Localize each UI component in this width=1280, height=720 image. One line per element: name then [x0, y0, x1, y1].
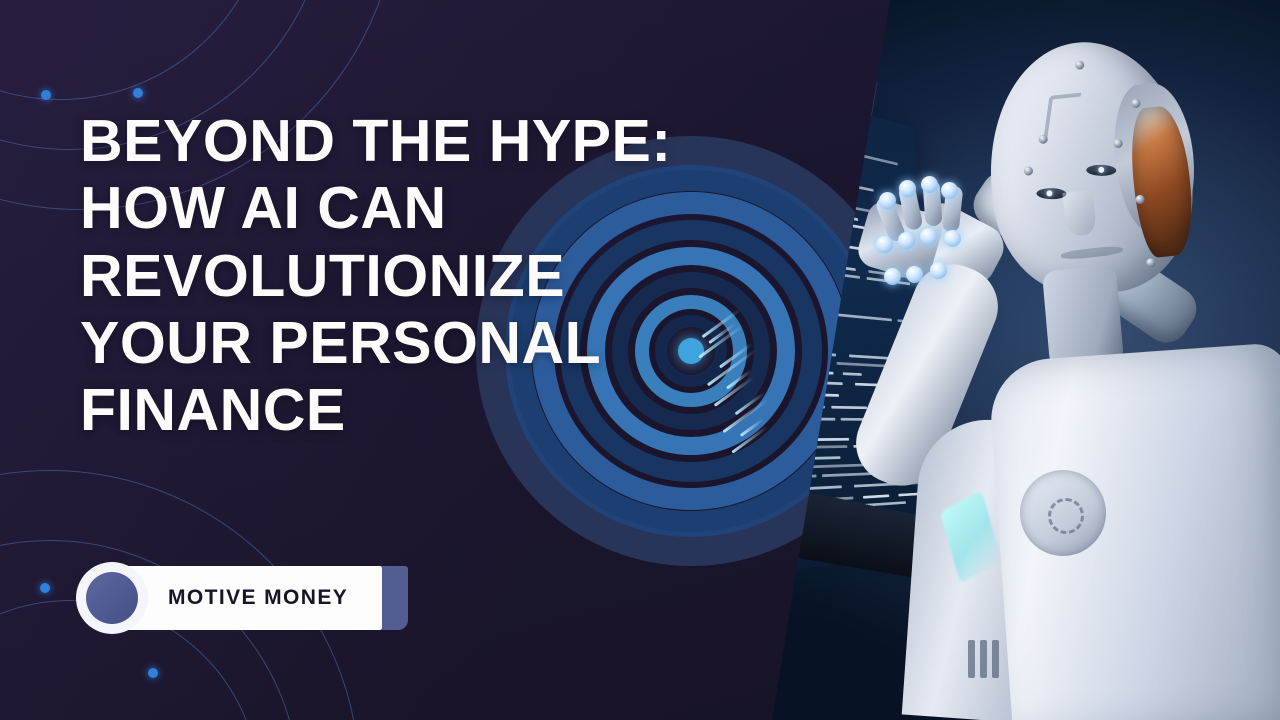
page-title-line-2: HOW AI CAN: [80, 175, 447, 241]
code-line-segment: [843, 372, 862, 376]
robot-chest-port: [1020, 470, 1106, 556]
robot-knuckle-4: [941, 182, 958, 199]
robot-knuckle-9: [884, 268, 901, 285]
brand-logo-badge[interactable]: MOTIVE MONEY: [76, 562, 406, 634]
content-panel: BEYOND THE HYPE:HOW AI CANREVOLUTIONIZEY…: [0, 0, 900, 720]
code-line-segment: [898, 493, 919, 497]
page-title-line-1: BEYOND THE HYPE:: [80, 108, 672, 174]
blog-feature-banner: BEYOND THE HYPE:HOW AI CANREVOLUTIONIZEY…: [0, 0, 1280, 720]
logo-circle-icon: [76, 562, 148, 634]
robot-knuckle-11: [930, 262, 947, 279]
code-line-segment: [825, 394, 839, 397]
head-screw-2: [1024, 166, 1034, 176]
page-title-line-5: FINANCE: [80, 377, 346, 443]
torso-vent-3: [992, 640, 999, 678]
robot-knuckle-2: [899, 180, 916, 197]
robot-knuckle-8: [944, 230, 961, 247]
head-screw-1: [1038, 134, 1048, 144]
code-line-segment: [831, 406, 867, 409]
torso-vent-1: [968, 640, 975, 678]
orbit-dot-1: [41, 90, 51, 100]
brand-name: MOTIVE MONEY: [168, 562, 348, 634]
page-title: BEYOND THE HYPE:HOW AI CANREVOLUTIONIZEY…: [80, 108, 720, 444]
page-title-line-4: YOUR PERSONAL: [80, 310, 601, 376]
orbit-dot-2: [133, 88, 143, 98]
logo-circle-inner: [86, 572, 138, 624]
code-line-segment: [863, 494, 889, 498]
robot-knuckle-5: [876, 236, 893, 253]
head-screw-6: [1146, 258, 1156, 268]
robot-mouth: [1061, 245, 1124, 260]
head-screw-7: [1075, 60, 1085, 70]
robot-knuckle-3: [921, 176, 938, 193]
robot-brow-marking: [1043, 92, 1081, 138]
logo-accent-tab: [382, 566, 408, 630]
robot-knuckle-1: [879, 192, 896, 209]
torso-vent-2: [980, 640, 987, 678]
robot-knuckle-7: [920, 228, 937, 245]
code-line-segment: [837, 362, 890, 368]
orbit-dot-4: [148, 668, 158, 678]
code-line-segment: [835, 313, 892, 321]
robot-nose: [1062, 190, 1096, 237]
robot-knuckle-6: [898, 232, 915, 249]
robot-knuckle-10: [906, 266, 923, 283]
code-line-segment: [822, 472, 873, 477]
orbit-dot-3: [40, 583, 50, 593]
page-title-line-3: REVOLUTIONIZE: [80, 243, 565, 309]
